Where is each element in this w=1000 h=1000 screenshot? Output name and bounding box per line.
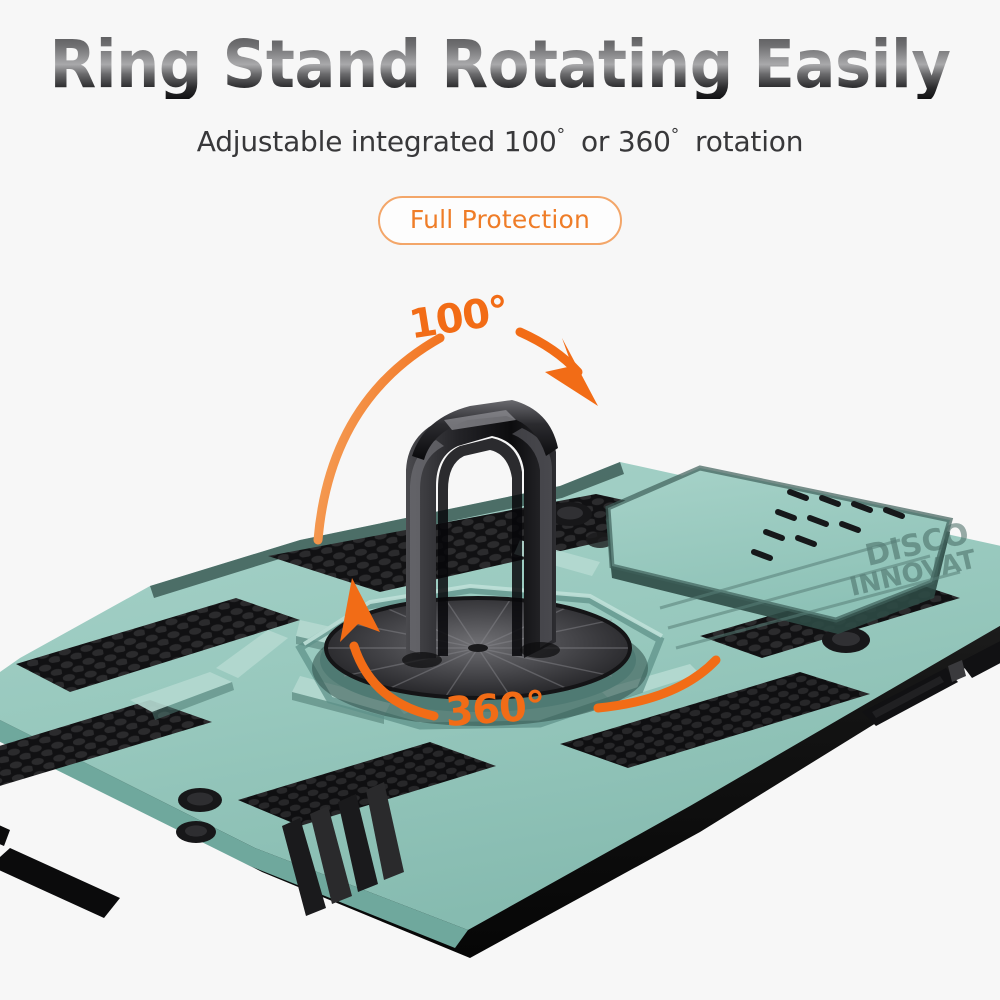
port-2-inner: [185, 825, 207, 836]
charging-port-cutout: [0, 848, 120, 918]
port-1-inner: [187, 793, 213, 806]
phone-case-illustration: DISCO INNOVAT: [0, 0, 1000, 1000]
rotation-360-label: 360°: [444, 683, 546, 736]
bottom-cutout-secondary: [0, 812, 10, 846]
port-3-inner: [557, 507, 583, 520]
ring-foot-shadow-left: [402, 652, 442, 668]
ring-foot-shadow-right: [520, 642, 560, 658]
disc-center-hub: [468, 644, 488, 652]
arc-100-degrees-right: [520, 332, 578, 372]
port-4-inner: [832, 632, 860, 646]
product-image-canvas: Ring Stand Rotating Easily Adjustable in…: [0, 0, 1000, 1000]
arrowhead-100-degrees: [545, 338, 598, 406]
